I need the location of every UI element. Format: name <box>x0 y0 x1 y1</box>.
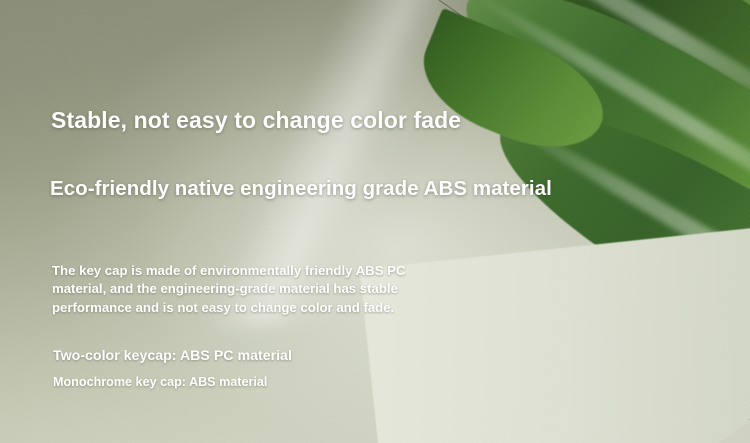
subheadline: Eco-friendly native engineering grade AB… <box>50 177 552 201</box>
promo-banner: Stable, not easy to change color fade Ec… <box>0 0 750 443</box>
callout-monochrome-keycap: Monochrome key cap: ABS material <box>53 375 267 389</box>
body-copy-line: The key cap is made of environmentally f… <box>52 262 482 280</box>
copy-layer: Stable, not easy to change color fade Ec… <box>0 0 750 443</box>
body-copy: The key cap is made of environmentally f… <box>52 262 482 317</box>
body-copy-line: material, and the engineering-grade mate… <box>52 280 482 298</box>
body-copy-line: performance and is not easy to change co… <box>52 299 482 317</box>
callout-two-color-keycap: Two-color keycap: ABS PC material <box>53 348 292 364</box>
headline: Stable, not easy to change color fade <box>51 107 461 134</box>
